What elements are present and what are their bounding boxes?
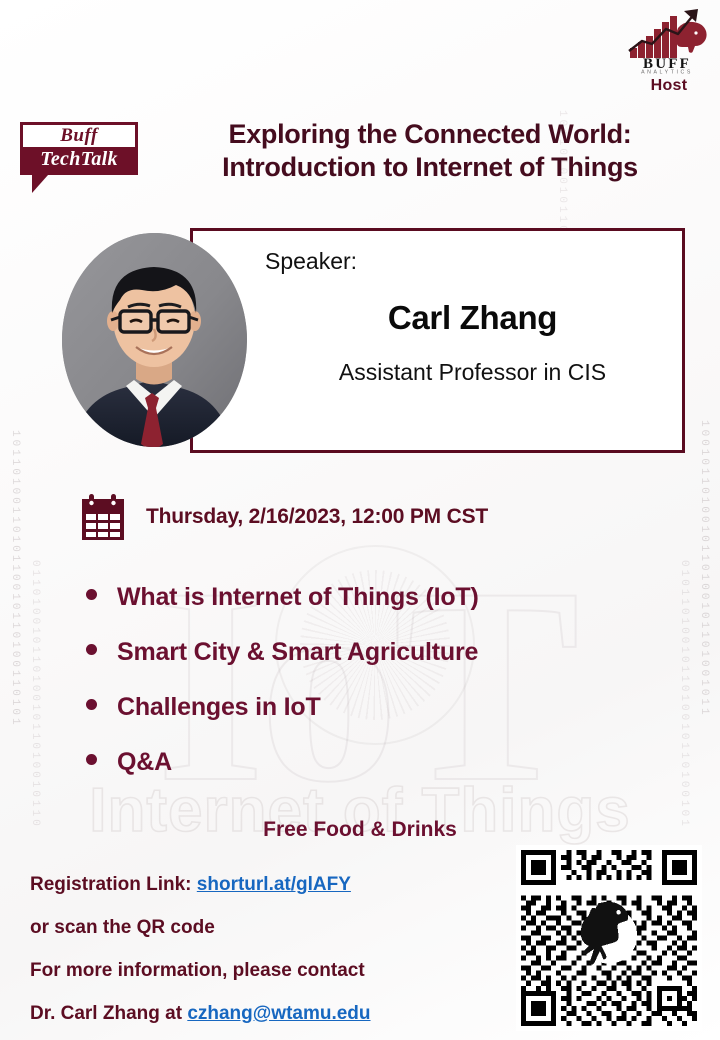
binary-watermark-right-inner: 0101101001011010010110100101 [675,560,692,829]
speaker-role: Assistant Professor in CIS [265,359,680,386]
agenda-list: What is Internet of Things (IoT) Smart C… [86,583,646,803]
agenda-item-label: Q&A [117,748,172,777]
event-flyer: IoT Internet of Things 10110100110101100… [0,0,720,1040]
scan-qr-line: or scan the QR code [30,913,500,956]
techtalk-logo-line1: Buff [60,125,98,147]
registration-line: Registration Link: shorturl.at/glAFY [30,870,500,913]
title-line-2: Introduction to Internet of Things [150,151,710,184]
more-info-line: For more information, please contact [30,956,500,999]
agenda-item-label: What is Internet of Things (IoT) [117,583,479,612]
speech-bubble-icon [32,175,48,193]
event-datetime-row: Thursday, 2/16/2023, 12:00 PM CST [78,492,488,542]
techtalk-logo-bottom: TechTalk [20,147,138,175]
page-title: Exploring the Connected World: Introduct… [150,118,710,184]
speaker-text-block: Speaker: Carl Zhang Assistant Professor … [265,248,680,386]
contact-label: Dr. Carl Zhang at [30,1003,187,1024]
qr-code-icon[interactable] [516,845,702,1031]
contact-line: Dr. Carl Zhang at czhang@wtamu.edu [30,999,500,1040]
host-label: Host [626,77,712,95]
calendar-icon [78,492,128,542]
agenda-item-label: Smart City & Smart Agriculture [117,638,478,667]
list-item: What is Internet of Things (IoT) [86,583,646,638]
list-item: Challenges in IoT [86,693,646,748]
bullet-dot-icon [86,754,97,765]
qr-code[interactable] [516,845,702,1031]
binary-watermark-left: 1011010011010110010110100110101 [6,430,23,728]
event-datetime: Thursday, 2/16/2023, 12:00 PM CST [146,505,488,529]
contact-email-link[interactable]: czhang@wtamu.edu [187,1003,370,1024]
binary-watermark-right: 1001011010010110100101101001011 [695,420,712,718]
title-line-1: Exploring the Connected World: [150,118,710,151]
perks-text: Free Food & Drinks [0,818,720,842]
bullet-dot-icon [86,589,97,600]
speaker-label: Speaker: [265,248,680,275]
list-item: Q&A [86,748,646,803]
avatar [62,233,247,447]
bullet-dot-icon [86,644,97,655]
list-item: Smart City & Smart Agriculture [86,638,646,693]
registration-label: Registration Link: [30,874,197,895]
techtalk-logo-line2: TechTalk [40,148,118,171]
binary-watermark-left-inner: 0110100101101001011010010110 [26,560,43,829]
speaker-headshot-photo [62,233,247,447]
bullet-dot-icon [86,699,97,710]
speaker-name: Carl Zhang [265,299,680,337]
svg-text:ANALYTICS: ANALYTICS [641,70,693,75]
agenda-item-label: Challenges in IoT [117,693,321,722]
buff-techtalk-logo: Buff TechTalk [20,122,138,193]
techtalk-logo-top: Buff [20,122,138,147]
footer-block: Registration Link: shorturl.at/glAFY or … [30,870,500,1040]
buff-analytics-logo-icon: BUFF ANALYTICS [626,8,708,74]
host-block: BUFF ANALYTICS Host [626,8,712,95]
registration-link[interactable]: shorturl.at/glAFY [197,874,351,895]
